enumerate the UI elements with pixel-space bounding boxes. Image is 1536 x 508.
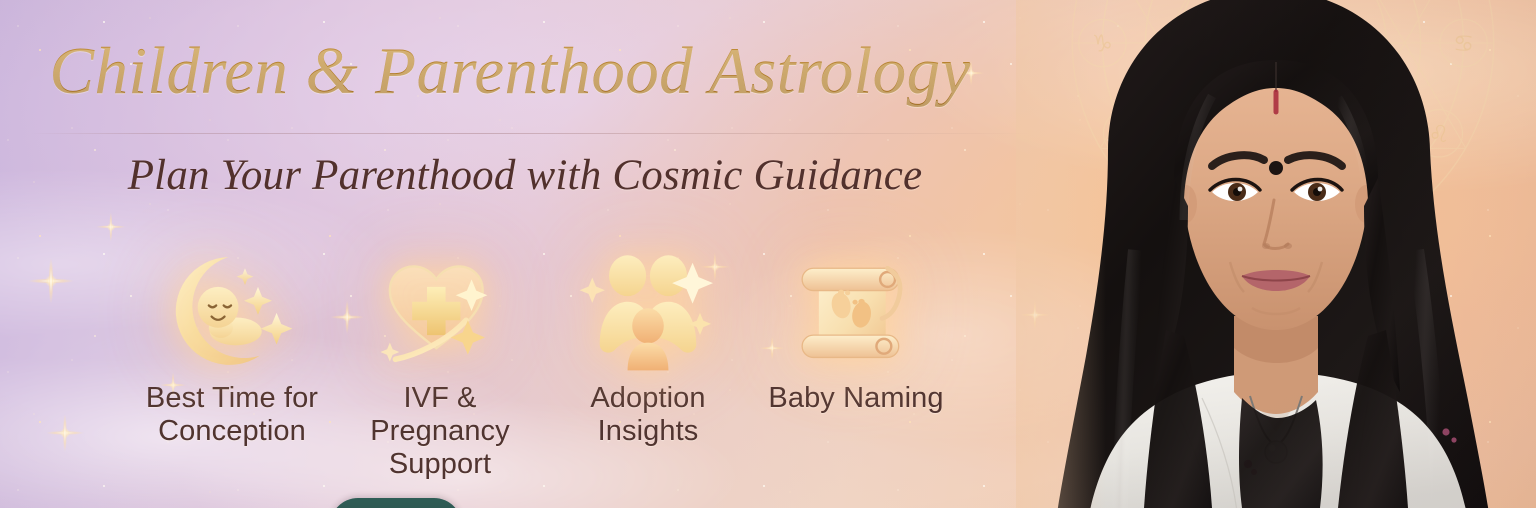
- feature-label: Best Time for Conception: [146, 382, 318, 448]
- page-title: Children & Parenthood Astrology: [0, 36, 1020, 107]
- feature-item-adoption[interactable]: Adoption Insights: [544, 246, 752, 448]
- title-divider: [30, 133, 1030, 134]
- feature-label-line1: Adoption: [590, 382, 705, 414]
- family-group-icon: [583, 246, 713, 376]
- feature-item-baby-naming[interactable]: Baby Naming: [752, 246, 960, 415]
- feature-item-ivf-pregnancy[interactable]: IVF & Pregnancy Support: [336, 246, 544, 481]
- scroll-footprints-icon: [791, 246, 921, 376]
- moon-baby-icon: [167, 246, 297, 376]
- feature-label-line1: Baby Naming: [768, 382, 943, 414]
- feature-label-line2: Insights: [598, 415, 699, 447]
- feature-label: Baby Naming: [768, 382, 943, 415]
- astrologer-portrait: [1016, 0, 1536, 508]
- heart-medical-cross-icon: [375, 246, 505, 376]
- feature-label: Adoption Insights: [590, 382, 705, 448]
- feature-item-conception[interactable]: Best Time for Conception: [128, 246, 336, 448]
- feature-label: IVF & Pregnancy Support: [336, 382, 544, 481]
- banner-content: Children & Parenthood Astrology Plan You…: [0, 0, 1040, 508]
- feature-label-line2: Conception: [158, 415, 306, 447]
- feature-label-line2: Support: [389, 448, 491, 480]
- feature-label-line1: IVF & Pregnancy: [370, 382, 510, 447]
- cta-button-partial[interactable]: [330, 498, 462, 508]
- feature-label-line1: Best Time for: [146, 382, 318, 414]
- page-subtitle: Plan Your Parenthood with Cosmic Guidanc…: [0, 152, 1050, 199]
- astrology-service-banner: ♈ ♉ ♊ ♋ ♌ ♍ ♎ ♏ ♐ ♑ ♒ ♓ Children & Paren…: [0, 0, 1536, 508]
- feature-list: Best Time for Conception: [128, 246, 978, 481]
